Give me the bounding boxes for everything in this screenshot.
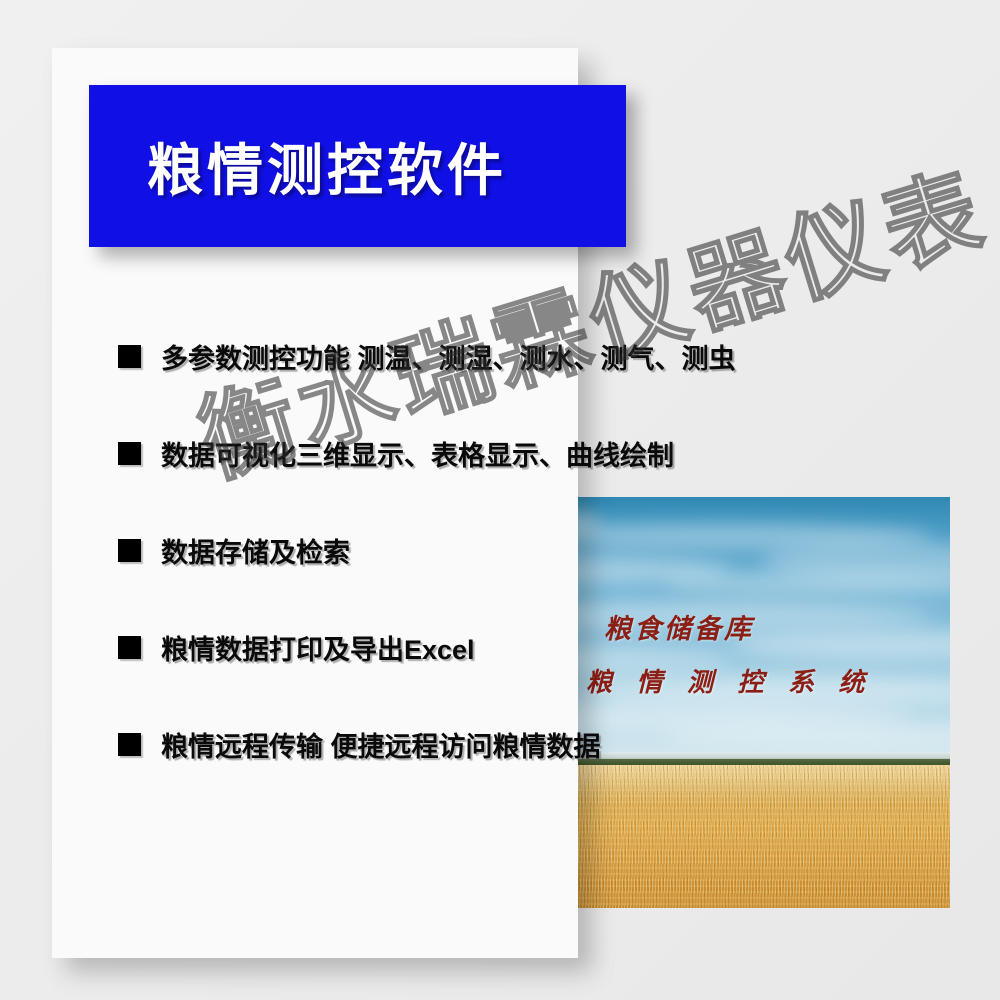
list-item: 数据可视化三维显示、表格显示、曲线绘制 — [118, 405, 998, 502]
square-bullet-icon — [118, 636, 141, 659]
square-bullet-icon — [118, 733, 141, 756]
page-title: 粮情测控软件 — [147, 126, 507, 207]
feature-label: 数据可视化三维显示、表格显示、曲线绘制 — [161, 434, 674, 473]
square-bullet-icon — [118, 345, 141, 368]
poster-canvas: 粮食储备库 粮 情 测 控 系 统 粮情测控软件 多参数测控功能 测温、测湿、测… — [0, 0, 1000, 1000]
title-banner: 粮情测控软件 — [89, 85, 626, 247]
list-item: 粮情远程传输 便捷远程访问粮情数据 — [118, 696, 998, 793]
square-bullet-icon — [118, 442, 141, 465]
feature-label: 粮情数据打印及导出Excel — [161, 628, 475, 667]
list-item: 多参数测控功能 测温、测湿、测水、测气、测虫 — [118, 308, 998, 405]
feature-list: 多参数测控功能 测温、测湿、测水、测气、测虫 数据可视化三维显示、表格显示、曲线… — [118, 308, 998, 793]
feature-label: 粮情远程传输 便捷远程访问粮情数据 — [161, 725, 601, 764]
square-bullet-icon — [118, 539, 141, 562]
feature-label: 多参数测控功能 测温、测湿、测水、测气、测虫 — [161, 337, 736, 376]
list-item: 粮情数据打印及导出Excel — [118, 599, 998, 696]
list-item: 数据存储及检索 — [118, 502, 998, 599]
feature-label: 数据存储及检索 — [161, 531, 350, 570]
